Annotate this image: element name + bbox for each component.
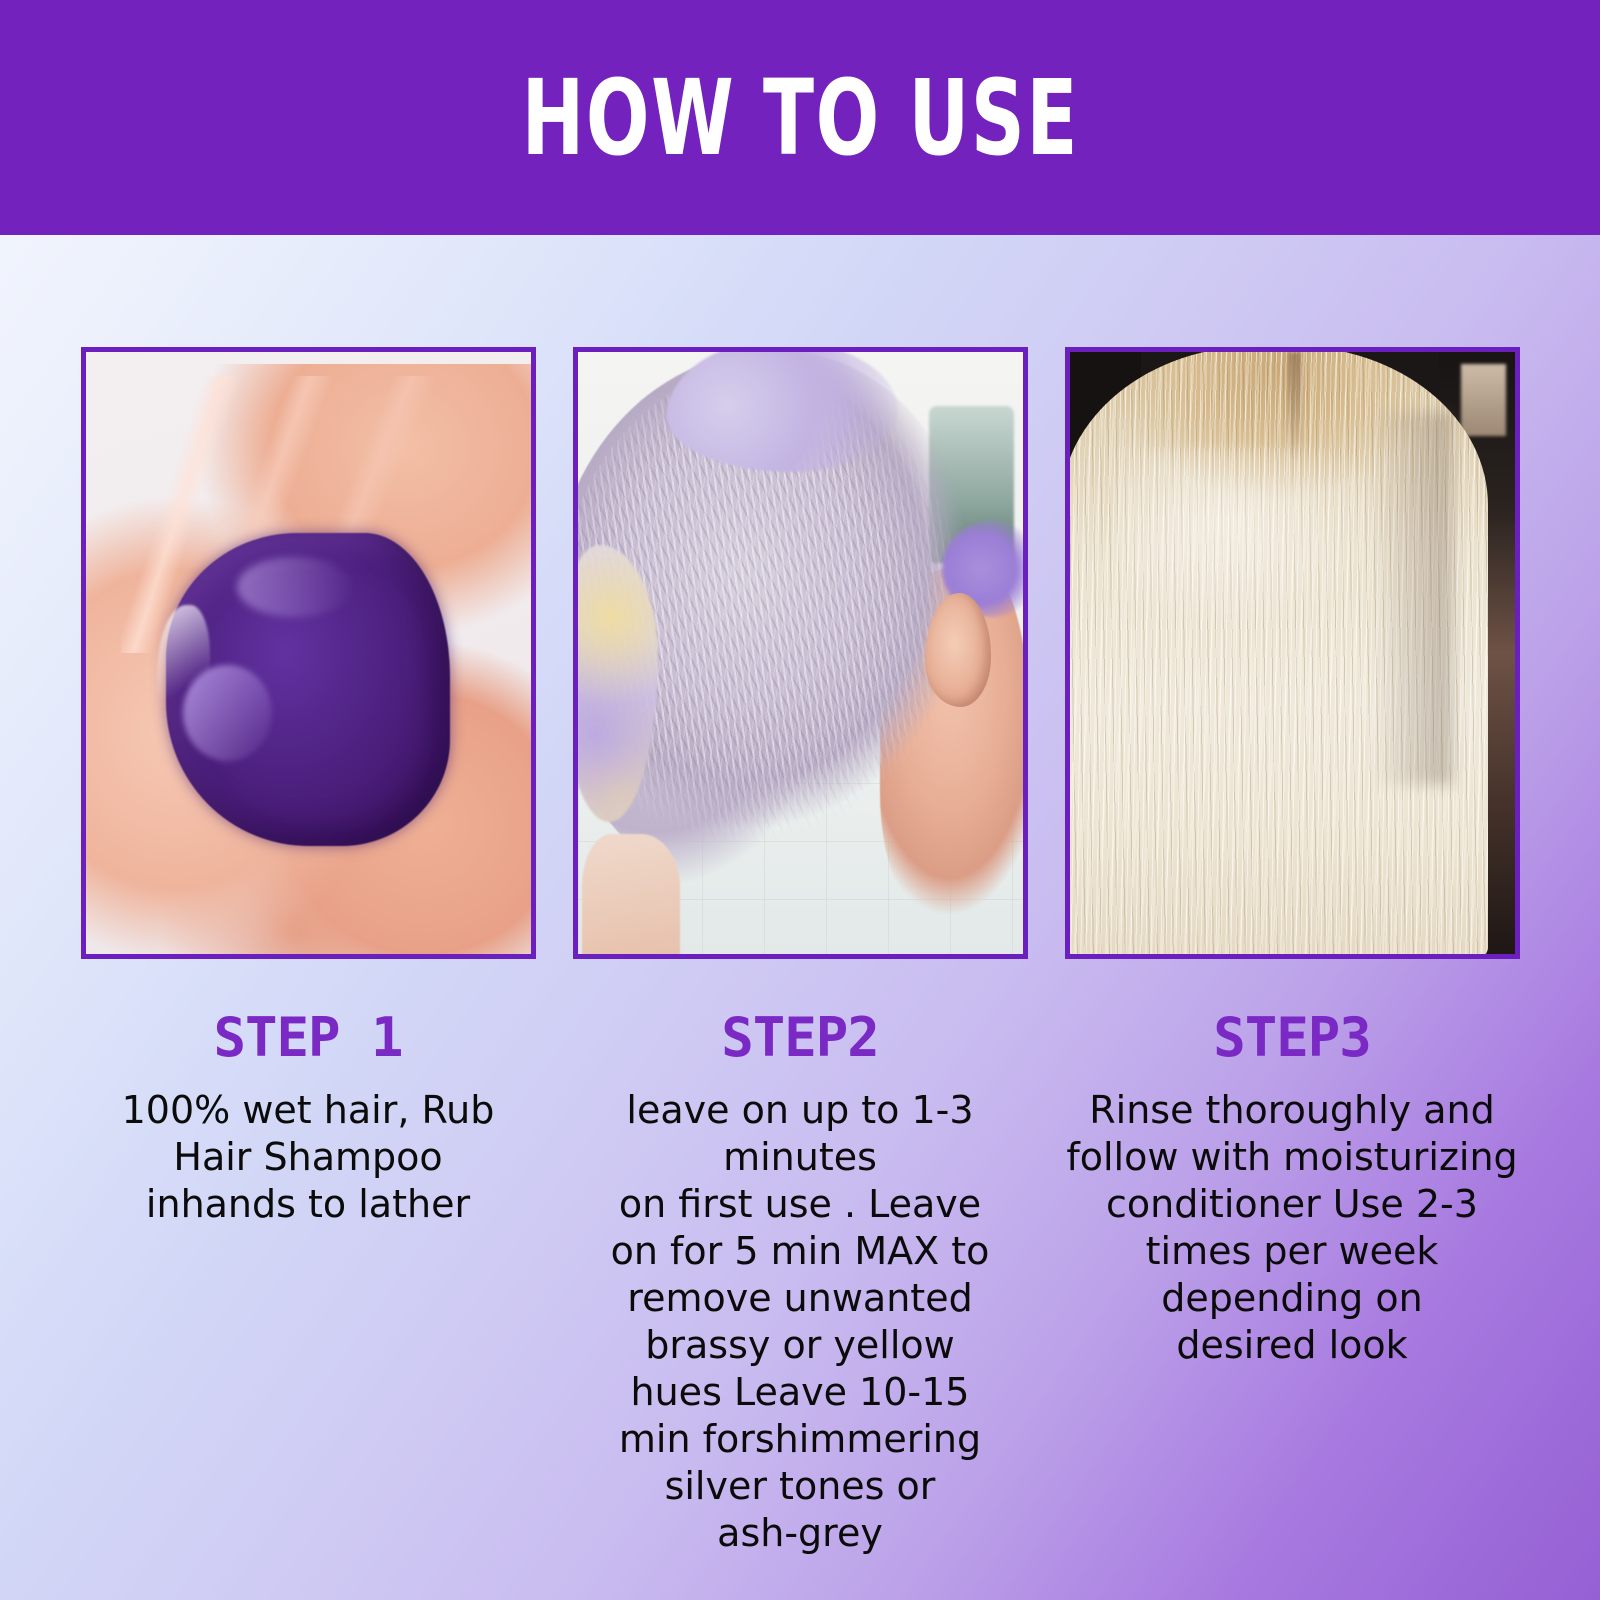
step-2-description: leave on up to 1-3 minutes on first use … [565,1087,1035,1557]
step-3-description: Rinse thoroughly and follow with moistur… [1057,1087,1527,1369]
step-3-label: STEP3 [1213,1011,1371,1065]
step-1-photo-frame [81,347,536,959]
step-2-label: STEP2 [721,1011,879,1065]
step-1-label: STEP 1 [213,1011,402,1065]
foam-top [667,352,898,472]
steps-row: STEP 1 100% wet hair, Rub Hair Shampoo i… [0,235,1600,1600]
lathering-shampoo-into-hair-image [578,352,1023,954]
how-to-use-infographic: HOW TO USE STEP 1 100% wet hair, Rub Hai… [0,0,1600,1600]
step-column-1: STEP 1 100% wet hair, Rub Hair Shampoo i… [81,235,536,1600]
forearm [582,834,680,954]
step-column-2: STEP2 leave on up to 1-3 minutes on firs… [573,235,1028,1600]
step-3-photo-frame [1065,347,1520,959]
step-column-3: STEP3 Rinse thoroughly and follow with m… [1065,235,1520,1600]
hair-sheen [1114,448,1390,629]
header-banner: HOW TO USE [0,0,1600,235]
page-title: HOW TO USE [521,66,1078,170]
gel-highlight-upper [237,557,353,617]
background-window [1461,364,1506,436]
finger-sheen [157,605,210,737]
step-1-description: 100% wet hair, Rub Hair Shampoo inhands … [73,1087,543,1228]
hand-holding-purple-shampoo-image [86,352,531,954]
step-2-photo-frame [573,347,1028,959]
hair-part-line [1288,352,1301,460]
rinsed-platinum-blonde-hair-image [1070,352,1515,954]
